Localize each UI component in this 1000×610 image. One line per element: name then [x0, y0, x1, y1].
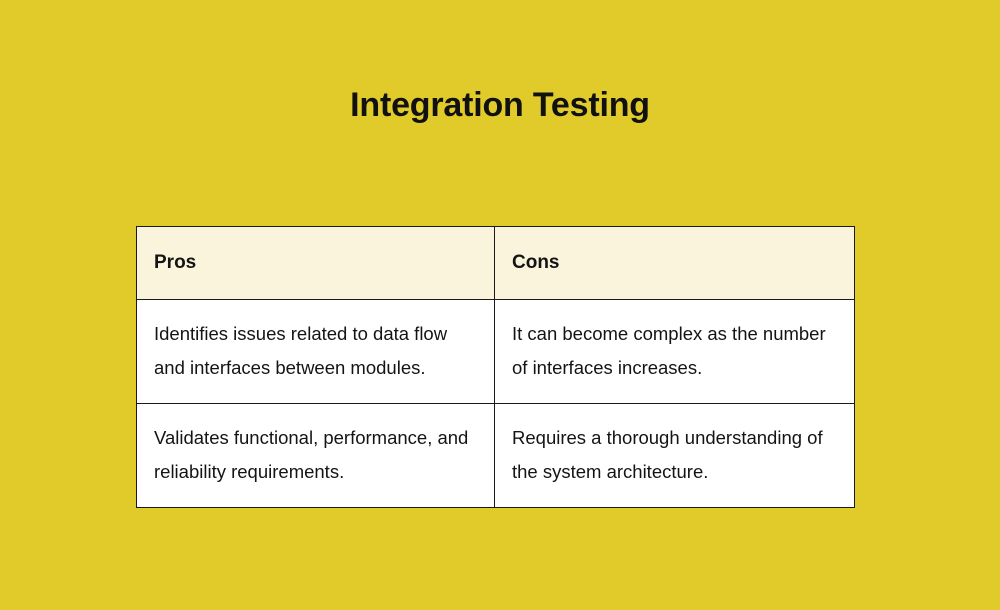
- slide-canvas: Integration Testing Pros Cons Identifies…: [0, 0, 1000, 610]
- table-header-row: Pros Cons: [137, 227, 855, 300]
- cell-text: Validates functional, performance, and r…: [154, 421, 474, 489]
- cell-pros-1: Identifies issues related to data flow a…: [137, 300, 495, 404]
- cell-pros-2: Validates functional, performance, and r…: [137, 404, 495, 508]
- table-body: Identifies issues related to data flow a…: [137, 300, 855, 508]
- table-row: Validates functional, performance, and r…: [137, 404, 855, 508]
- cell-cons-1: It can become complex as the number of i…: [495, 300, 855, 404]
- table-row: Identifies issues related to data flow a…: [137, 300, 855, 404]
- column-header-pros: Pros: [137, 227, 495, 300]
- cell-text: It can become complex as the number of i…: [512, 317, 834, 385]
- pros-cons-table: Pros Cons Identifies issues related to d…: [136, 226, 855, 508]
- cell-text: Identifies issues related to data flow a…: [154, 317, 474, 385]
- table-header: Pros Cons: [137, 227, 855, 300]
- cell-text: Requires a thorough understanding of the…: [512, 421, 834, 489]
- page-title: Integration Testing: [0, 83, 1000, 127]
- cell-cons-2: Requires a thorough understanding of the…: [495, 404, 855, 508]
- column-header-cons: Cons: [495, 227, 855, 300]
